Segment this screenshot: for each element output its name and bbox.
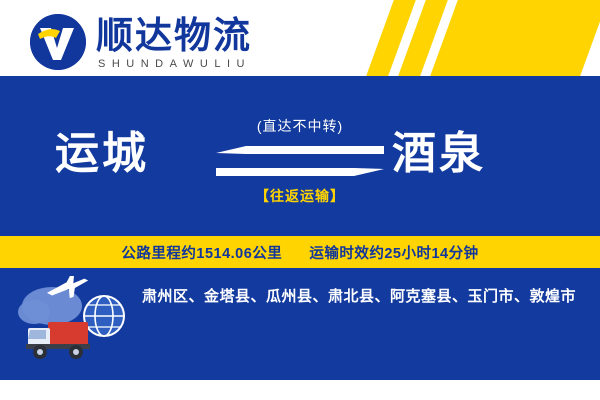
route-section: 运城 (直达不中转) 【往返运输】 酒泉 (0, 76, 600, 236)
distance-bar: 公路里程约1514.06公里 运输时效约25小时14分钟 (0, 236, 600, 268)
distance-text: 公路里程约1514.06公里 (121, 246, 282, 262)
brand-name-en: SHUNDAWULIU (98, 58, 251, 70)
destination-city: 酒泉 (392, 130, 486, 178)
swoosh-logo-icon (30, 14, 86, 70)
coverage-areas-text: 肃州区、金塔县、瓜州县、肃北县、阿克塞县、玉门市、敦煌市 (142, 284, 582, 310)
truck-globe-plane-icon (18, 276, 130, 368)
duration-text: 运输时效约25小时14分钟 (309, 246, 478, 262)
direct-label: (直达不中转) (0, 116, 600, 136)
footer-strip (0, 380, 600, 400)
origin-city: 运城 (55, 130, 149, 178)
header: 顺达物流 SHUNDAWULIU (0, 0, 600, 76)
brand-name-cn: 顺达物流 (96, 16, 252, 56)
roundtrip-label: 【往返运输】 (0, 186, 600, 206)
logistics-route-poster: 顺达物流 SHUNDAWULIU 运城 (直达不中转) 【往返运输】 酒泉 公路… (0, 0, 600, 400)
header-stripe-3 (427, 0, 600, 76)
double-arrow-icon (216, 144, 384, 178)
